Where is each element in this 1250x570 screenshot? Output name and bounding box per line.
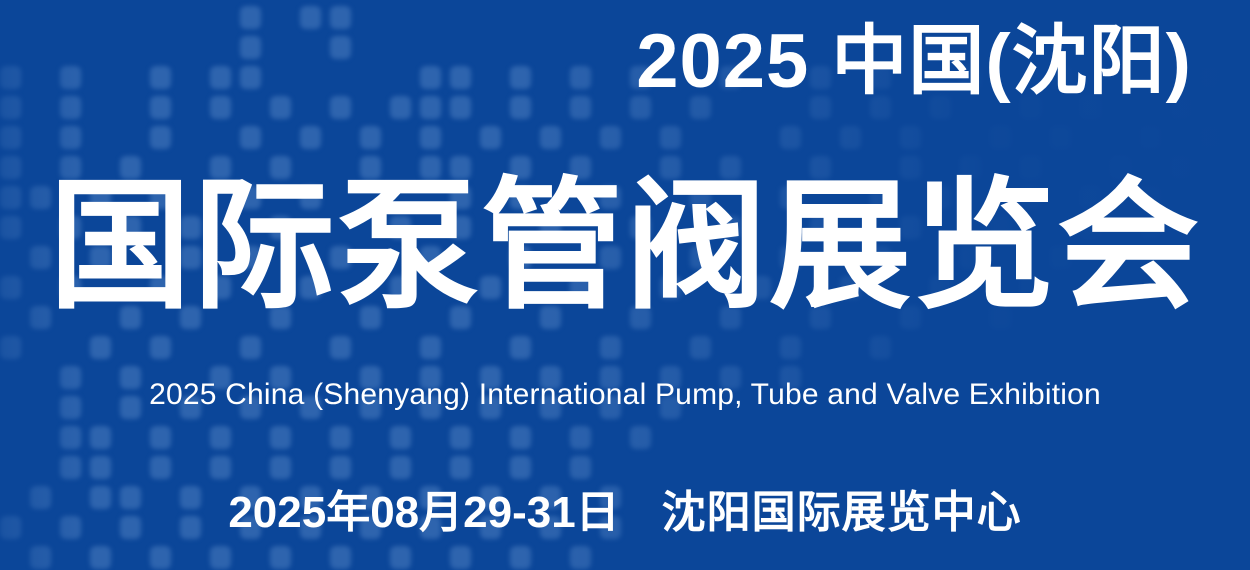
event-venue: 沈阳国际展览中心 bbox=[662, 491, 1022, 535]
event-date: 2025年08月29-31日 bbox=[228, 491, 619, 535]
exhibition-banner: 2025 中国(沈阳) 国际泵管阀展览会 2025 China (Shenyan… bbox=[0, 0, 1250, 570]
banner-footer: 2025年08月29-31日 沈阳国际展览中心 bbox=[0, 491, 1250, 535]
banner-title-line-2: 国际泵管阀展览会 bbox=[0, 176, 1250, 318]
banner-content: 2025 中国(沈阳) 国际泵管阀展览会 2025 China (Shenyan… bbox=[0, 0, 1250, 570]
banner-title-line-1: 2025 中国(沈阳) bbox=[0, 24, 1192, 100]
banner-subtitle-english: 2025 China (Shenyang) International Pump… bbox=[0, 380, 1250, 410]
